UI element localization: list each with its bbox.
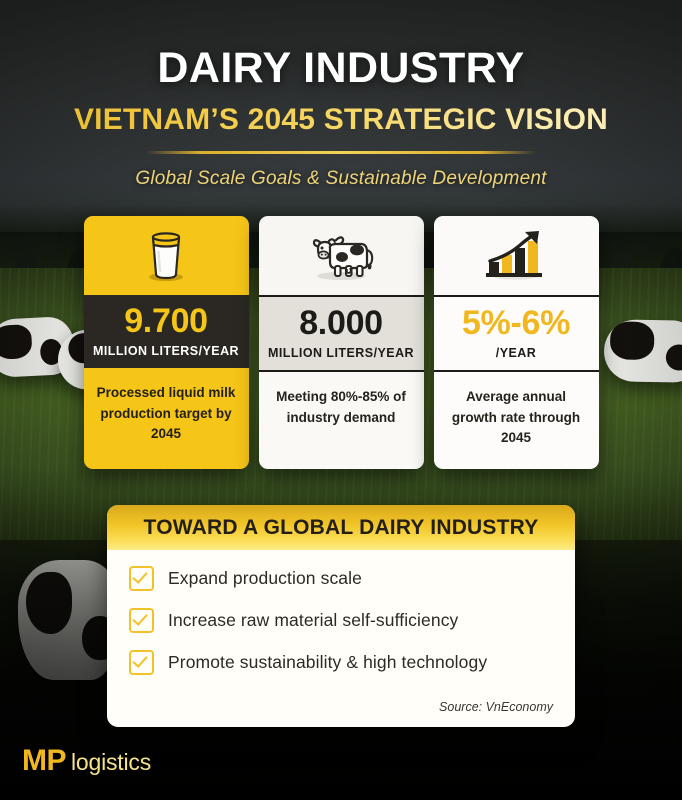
stat-card-milk-production: 9.700 MILLION LITERS/YEAR Processed liqu… (84, 216, 249, 469)
goals-list: Expand production scale Increase raw mat… (107, 550, 575, 700)
list-item: Promote sustainability & high technology (129, 650, 553, 675)
stat-value: 9.700 (88, 304, 245, 340)
logo-mark: MP (22, 744, 66, 778)
list-item: Increase raw material self-sufficiency (129, 608, 553, 633)
goals-panel: TOWARD A GLOBAL DAIRY INDUSTRY Expand pr… (107, 505, 575, 727)
stat-value: 8.000 (263, 306, 420, 342)
stat-card-industry-demand: 8.000 MILLION LITERS/YEAR Meeting 80%-85… (259, 216, 424, 469)
stat-card-growth-rate: 5%-6% /YEAR Average annual growth rate t… (434, 216, 599, 469)
list-item: Expand production scale (129, 566, 553, 591)
page-subtitle: VIETNAM’S 2045 STRATEGIC VISION (0, 103, 682, 137)
list-item-label: Promote sustainability & high technology (168, 652, 487, 673)
logo-wordmark: logistics (71, 749, 151, 776)
stat-card-group: 9.700 MILLION LITERS/YEAR Processed liqu… (0, 216, 682, 469)
checkbox-checked-icon (129, 566, 154, 591)
page-title: DAIRY INDUSTRY (0, 0, 682, 92)
stat-value-band: 5%-6% /YEAR (434, 295, 599, 373)
stat-unit: MILLION LITERS/YEAR (263, 346, 420, 360)
stat-unit: /YEAR (438, 346, 595, 360)
header-divider (146, 151, 536, 154)
stat-value: 5%-6% (438, 306, 595, 342)
goals-panel-heading: TOWARD A GLOBAL DAIRY INDUSTRY (107, 505, 575, 550)
page-tagline: Global Scale Goals & Sustainable Develop… (0, 168, 682, 190)
stat-description: Average annual growth rate through 2045 (434, 372, 599, 469)
stat-value-band: 8.000 MILLION LITERS/YEAR (259, 295, 424, 373)
stat-description: Meeting 80%-85% of industry demand (259, 372, 424, 469)
list-item-label: Expand production scale (168, 568, 362, 589)
list-item-label: Increase raw material self-sufficiency (168, 610, 458, 631)
source-attribution: Source: VnEconomy (107, 700, 575, 727)
poster-content: DAIRY INDUSTRY VIETNAM’S 2045 STRATEGIC … (0, 0, 682, 727)
checkbox-checked-icon (129, 608, 154, 633)
infographic-poster: DAIRY INDUSTRY VIETNAM’S 2045 STRATEGIC … (0, 0, 682, 800)
cow-icon (259, 216, 424, 295)
brand-logo: MP logistics (22, 744, 151, 778)
growth-chart-icon (434, 216, 599, 295)
checkbox-checked-icon (129, 650, 154, 675)
milk-glass-icon (84, 216, 249, 295)
stat-description: Processed liquid milk production target … (84, 368, 249, 469)
stat-value-band: 9.700 MILLION LITERS/YEAR (84, 295, 249, 369)
stat-unit: MILLION LITERS/YEAR (88, 344, 245, 358)
